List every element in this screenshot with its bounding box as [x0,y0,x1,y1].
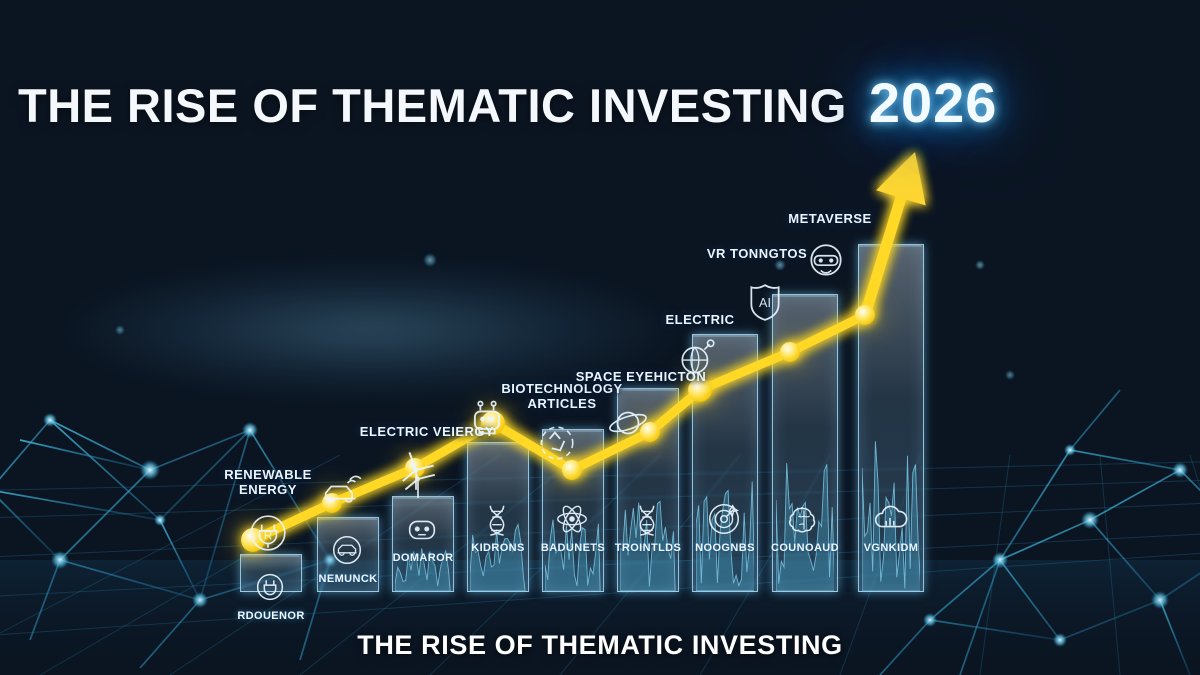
theme-label-electric[interactable]: ELECTRIC [666,313,735,328]
bar-label: BADUNETS [541,542,605,554]
bar-label: KIDRONS [471,542,525,554]
trend-node-8[interactable] [855,305,875,325]
dna-icon [478,500,518,540]
bar-side-face [301,556,302,592]
bar-side-face [757,336,758,592]
plug-icon [251,568,291,608]
recycle-icon [536,422,578,469]
bar-side-face [378,519,379,592]
car-icon [328,531,368,571]
planet-icon [607,402,649,449]
dna-icon [628,500,668,540]
headline-block: THE RISE OF THEMATIC INVESTING 2026 [18,70,1028,135]
theme-label-renewable[interactable]: RENEWABLE ENERGY [224,468,312,498]
robot-icon [403,510,443,550]
bar-label: NOOGNBS [695,542,755,554]
theme-label-metaverse[interactable]: METAVERSE [788,212,871,227]
bar-label: VGNKIDM [864,542,919,554]
poster-canvas: RDOUENORNEMUNCKDOMARORKIDRONSBADUNETSTRO… [0,0,1200,675]
page-title: THE RISE OF THEMATIC INVESTING [18,78,847,133]
windmill-icon [394,448,438,497]
trend-node-7[interactable] [780,342,800,362]
bar-label: DOMAROR [393,552,454,564]
robot-head-icon [465,396,509,445]
brain-icon [785,500,825,540]
bar-side-face [528,444,529,592]
bar-side-face [923,246,924,592]
year-badge: 2026 [869,70,998,135]
bar-label: COUNOAUD [771,542,839,554]
bar-side-face [453,498,454,592]
theme-label-vr-tonngtos[interactable]: VR TONNGTOS [707,247,807,262]
plug-circle-icon [247,512,289,559]
bar-top-face [617,388,678,391]
theme-label-biotechnology[interactable]: BIOTECHNOLOGY ARTICLES [501,382,622,412]
bar-side-face [603,431,604,592]
bar-label: NEMUNCK [318,573,377,585]
target-icon [705,500,745,540]
vr-face-icon [805,240,847,287]
globe-icon [676,337,718,384]
cloud-icon [871,500,911,540]
atom-icon [553,500,593,540]
car-wifi-icon [318,470,362,519]
ai-shield-icon [744,281,786,328]
bar-label: RDOUENOR [237,610,304,622]
bar-top-face [858,244,923,247]
bar-side-face [678,390,679,592]
footer-caption: THE RISE OF THEMATIC INVESTING [0,630,1200,661]
bar-label: TROINTLDS [615,542,682,554]
